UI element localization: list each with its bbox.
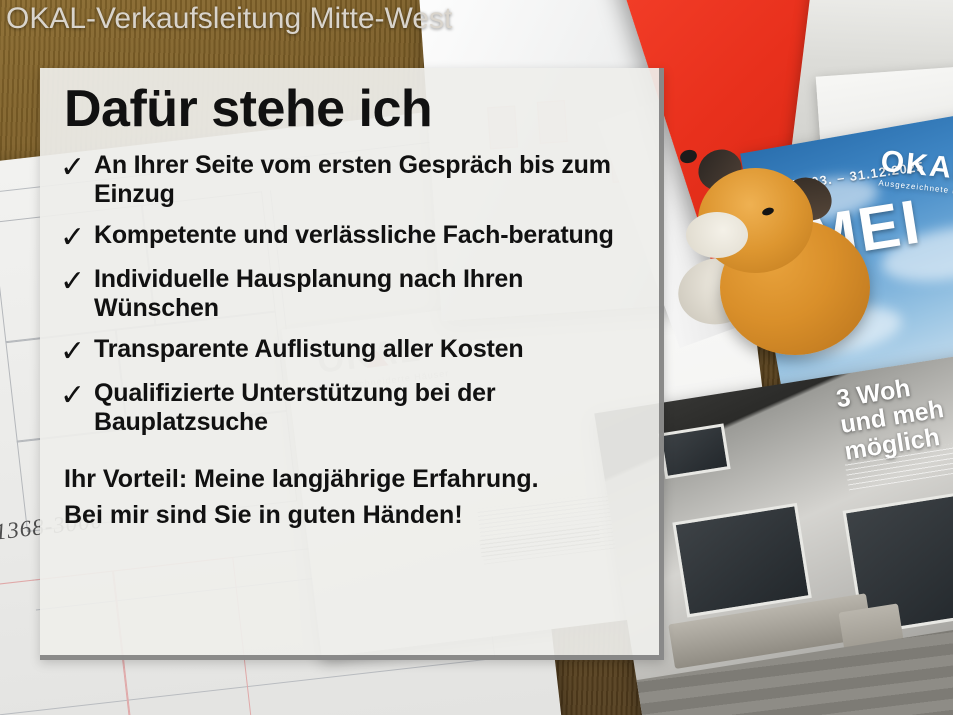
toy-fox-figurine <box>680 150 880 360</box>
list-item: ✓ Qualifizierte Unterstützung bei der Ba… <box>60 379 639 437</box>
list-item-label: An Ihrer Seite vom ersten Gespräch bis z… <box>94 151 639 209</box>
fox-snout <box>686 212 748 258</box>
poster-canvas: 1368-3000 OKAL maßgeschneiderte Häuser 1… <box>0 0 953 715</box>
checkmark-icon: ✓ <box>60 151 94 183</box>
list-item: ✓ Transparente Auflistung aller Kosten <box>60 335 639 367</box>
list-item: ✓ An Ihrer Seite vom ersten Gespräch bis… <box>60 151 639 209</box>
overlay-caption: OKAL-Verkaufsleitung Mitte-West <box>6 2 452 36</box>
closing-line-1: Ihr Vorteil: Meine langjährige Erfahrung… <box>64 463 639 496</box>
fox-nose <box>679 148 699 165</box>
fox-eye-right <box>761 206 775 216</box>
list-item-label: Kompetente und verlässliche Fach-beratun… <box>94 221 614 250</box>
content-panel: Dafür stehe ich ✓ An Ihrer Seite vom ers… <box>40 68 664 660</box>
list-item: ✓ Kompetente und verlässliche Fach-berat… <box>60 221 639 253</box>
benefits-list: ✓ An Ihrer Seite vom ersten Gespräch bis… <box>60 151 639 437</box>
list-item-label: Individuelle Hausplanung nach Ihren Wüns… <box>94 265 639 323</box>
page-title: Dafür stehe ich <box>64 82 639 137</box>
list-item-label: Transparente Auflistung aller Kosten <box>94 335 523 364</box>
list-item: ✓ Individuelle Hausplanung nach Ihren Wü… <box>60 265 639 323</box>
checkmark-icon: ✓ <box>60 265 94 297</box>
closing-line-2: Bei mir sind Sie in guten Händen! <box>64 499 639 532</box>
list-item-label: Qualifizierte Unterstützung bei der Baup… <box>94 379 639 437</box>
closing-statement: Ihr Vorteil: Meine langjährige Erfahrung… <box>64 463 639 532</box>
checkmark-icon: ✓ <box>60 221 94 253</box>
checkmark-icon: ✓ <box>60 335 94 367</box>
checkmark-icon: ✓ <box>60 379 94 411</box>
